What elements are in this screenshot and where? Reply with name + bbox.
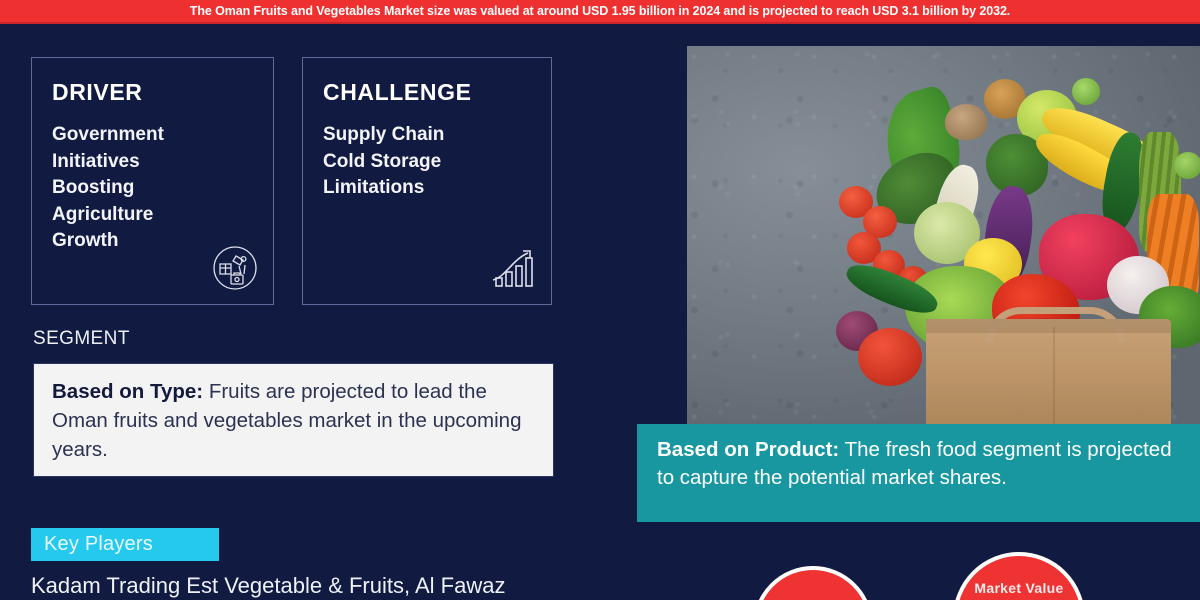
agriculture-tech-icon [209, 242, 261, 294]
bag-fold [926, 319, 1171, 333]
key-players-badge: Key Players [31, 528, 219, 561]
veg-mushroom [945, 104, 987, 140]
bag-seam [1053, 327, 1055, 429]
segment-type-lead: Based on Type: [52, 380, 203, 403]
challenge-body: Supply Chain Cold Storage Limitations [323, 122, 473, 201]
segment-product-lead: Based on Product: [657, 438, 839, 461]
stat-circle-right-label: Market Value [974, 580, 1063, 596]
headline-text: The Oman Fruits and Vegetables Market si… [190, 4, 1010, 18]
segment-type-card: Based on Type: Fruits are projected to l… [33, 363, 554, 477]
infographic-canvas: The Oman Fruits and Vegetables Market si… [0, 0, 1200, 600]
key-players-badge-label: Key Players [44, 533, 153, 556]
segment-label: SEGMENT [33, 328, 130, 350]
segment-type-text: Based on Type: Fruits are projected to l… [52, 377, 537, 464]
growth-chart-icon [487, 242, 539, 294]
stat-circle-market-value: Market Value [953, 552, 1085, 600]
veg-brussels-sprout-right [1174, 152, 1200, 179]
segment-product-card: Based on Product: The fresh food segment… [637, 424, 1200, 522]
challenge-title: CHALLENGE [323, 80, 531, 105]
stat-circle-left [753, 566, 873, 600]
driver-card: DRIVER Government Initiatives Boosting A… [31, 57, 274, 305]
driver-body: Government Initiatives Boosting Agricult… [52, 122, 222, 254]
produce-photo [687, 46, 1200, 429]
veg-beef-tomato [858, 328, 922, 386]
challenge-card: CHALLENGE Supply Chain Cold Storage Limi… [302, 57, 552, 305]
paper-grocery-bag [926, 319, 1171, 429]
veg-brussels-sprout-top [1072, 78, 1100, 105]
driver-title: DRIVER [52, 80, 253, 105]
segment-product-text: Based on Product: The fresh food segment… [657, 436, 1180, 493]
key-players-list: Kadam Trading Est Vegetable & Fruits, Al… [31, 572, 691, 600]
headline-banner: The Oman Fruits and Vegetables Market si… [0, 0, 1200, 24]
